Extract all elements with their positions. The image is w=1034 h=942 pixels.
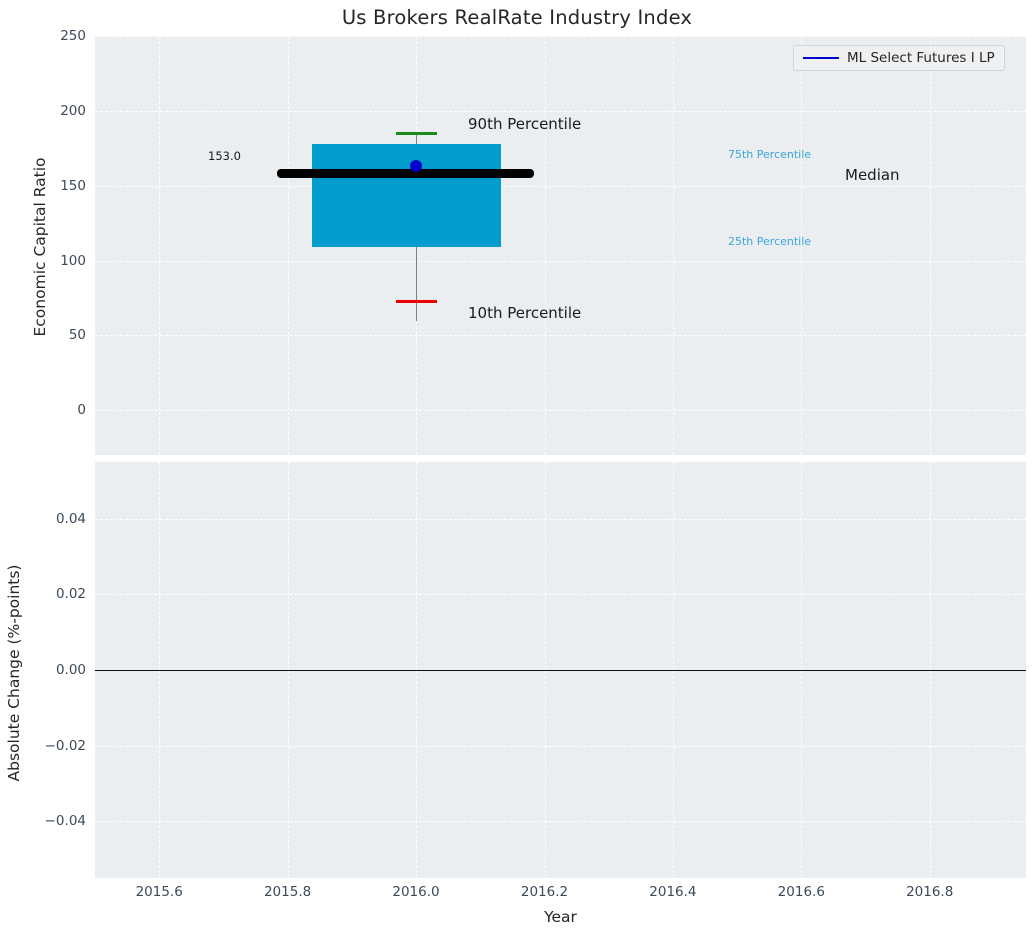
annotation-median: Median <box>845 166 900 184</box>
box-iqr-25th-to-75th <box>312 144 501 247</box>
annotation-25th-percentile: 25th Percentile <box>728 235 811 248</box>
x-tick-label: 2016.6 <box>778 884 825 900</box>
plot-area-economic-capital-ratio: 153.0 90th Percentile 75th Percentile Me… <box>95 36 1026 455</box>
y-axis-label-top: Economic Capital Ratio <box>31 47 49 447</box>
x-tick-label: 2016.0 <box>392 884 439 900</box>
annotation-90th-percentile: 90th Percentile <box>468 115 581 133</box>
median-bar <box>277 169 534 178</box>
gridline-x-2016.4 <box>673 36 674 455</box>
page-title: Us Brokers RealRate Industry Index <box>0 6 1034 29</box>
x-tick-label: 2015.6 <box>136 884 183 900</box>
series-marker-ml-select-futures[interactable] <box>410 160 422 172</box>
gridline-x-2016.8 <box>930 36 931 455</box>
legend-line-icon <box>803 57 839 59</box>
gridline-y-200 <box>95 111 1026 112</box>
chart-figure: Us Brokers RealRate Industry Index 153.0 <box>0 0 1034 942</box>
gridline-y--0.04 <box>95 821 1026 822</box>
gridline-y-0.04 <box>95 519 1026 520</box>
gridline-y-100 <box>95 261 1026 262</box>
gridline-x-2015.6 <box>159 36 160 455</box>
gridline-x-2015.8 <box>288 36 289 455</box>
x-tick-label: 2016.2 <box>521 884 568 900</box>
annotation-10th-percentile: 10th Percentile <box>468 304 581 322</box>
plot-area-absolute-change <box>95 462 1026 878</box>
whisker-cap-upper-90th <box>396 132 437 135</box>
legend[interactable]: ML Select Futures I LP <box>793 45 1005 71</box>
legend-item-label: ML Select Futures I LP <box>847 50 995 66</box>
gridline-y-0.02 <box>95 594 1026 595</box>
annotation-75th-percentile: 75th Percentile <box>728 148 811 161</box>
whisker-cap-lower-10th <box>396 300 437 303</box>
x-tick-label: 2015.8 <box>264 884 311 900</box>
gridline-y--0.02 <box>95 746 1026 747</box>
y-axis-label-bottom: Absolute Change (%-points) <box>5 473 23 873</box>
x-tick-label: 2016.8 <box>906 884 953 900</box>
gridline-x-2016.2 <box>545 36 546 455</box>
gridline-y-250 <box>95 36 1026 37</box>
x-tick-label: 2016.4 <box>649 884 696 900</box>
zero-reference-line <box>95 670 1026 671</box>
annotation-median-value: 153.0 <box>208 149 241 163</box>
gridline-y-0 <box>95 410 1026 411</box>
gridline-y-50 <box>95 335 1026 336</box>
x-axis-label: Year <box>95 908 1026 926</box>
y-tick-label: 250 <box>6 28 86 44</box>
gridline-y-150 <box>95 186 1026 187</box>
